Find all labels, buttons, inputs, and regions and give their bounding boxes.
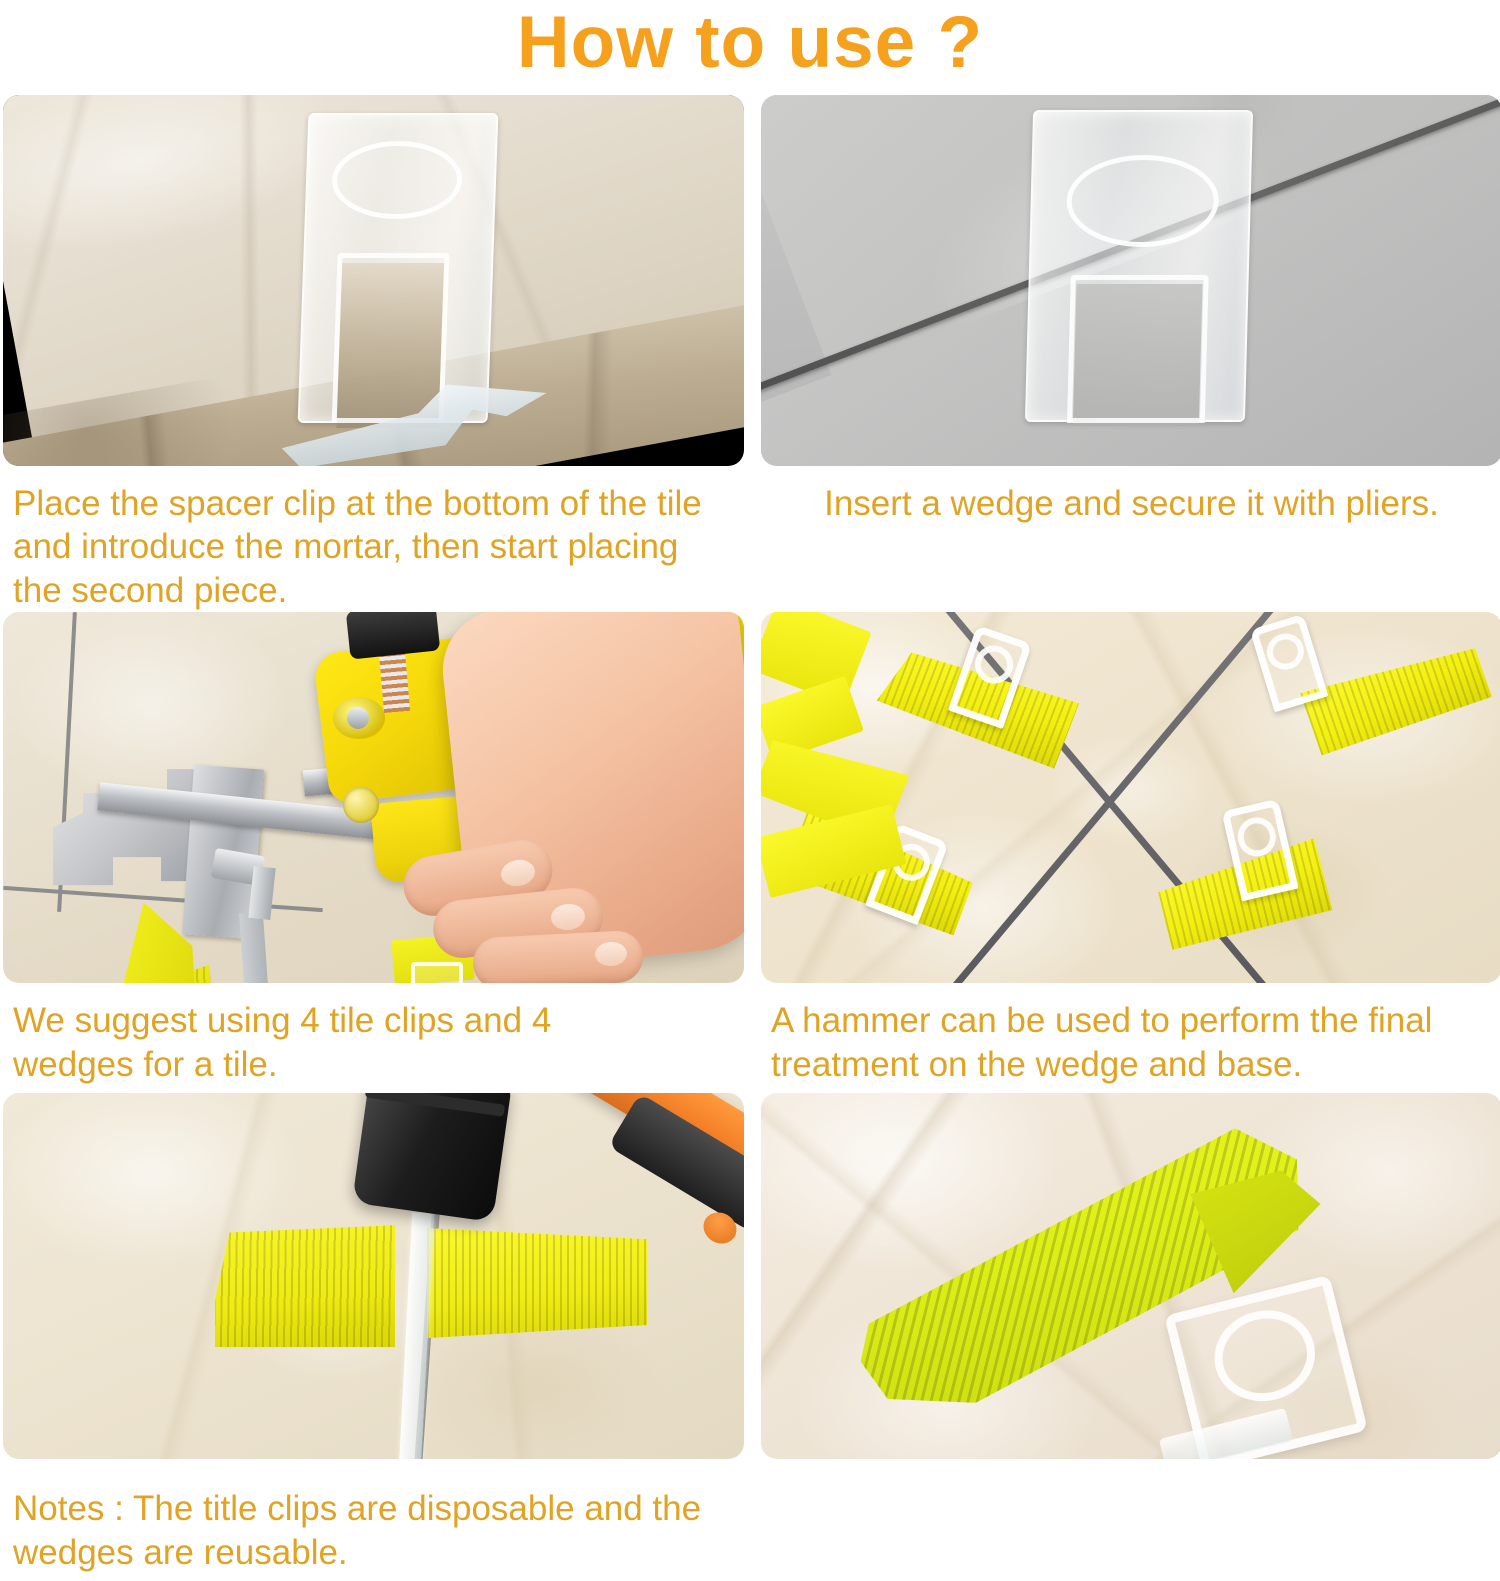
step-card-6	[761, 1093, 1500, 1471]
spacer	[761, 1459, 1500, 1471]
step-5-photo	[3, 1093, 744, 1459]
clip-base-slot	[1067, 275, 1209, 423]
step-6-photo	[761, 1093, 1500, 1459]
notes-caption: Notes : The title clips are disposable a…	[3, 1471, 742, 1581]
steps-row-1: Place the spacer clip at the bottom of t…	[0, 95, 1500, 612]
step-2-photo	[761, 95, 1500, 466]
notes-row: Notes : The title clips are disposable a…	[0, 1471, 1500, 1581]
step-card-3: We suggest using 4 tile clips and 4 wedg…	[3, 612, 744, 1093]
step-4-caption: A hammer can be used to perform the fina…	[761, 983, 1500, 1093]
step-4-photo	[761, 612, 1500, 983]
steps-row-2: We suggest using 4 tile clips and 4 wedg…	[0, 612, 1500, 1093]
step-1-photo	[3, 95, 744, 466]
plier-adjust-hole	[333, 697, 385, 739]
steps-row-3	[0, 1093, 1500, 1471]
yellow-wedge	[427, 1228, 647, 1338]
yellow-wedge	[215, 1225, 395, 1347]
step-3-photo	[3, 612, 744, 983]
spacer-clip-icon	[1025, 110, 1253, 422]
step-card-5	[3, 1093, 744, 1471]
spacer-clip-icon	[411, 962, 463, 983]
step-3-caption: We suggest using 4 tile clips and 4 wedg…	[3, 983, 744, 1093]
step-2-caption: Insert a wedge and secure it with pliers…	[761, 466, 1500, 576]
step-card-2: Insert a wedge and secure it with pliers…	[761, 95, 1500, 612]
step-1-caption: Place the spacer clip at the bottom of t…	[3, 466, 744, 612]
spacer-clip-icon	[298, 113, 499, 423]
steps-grid: Place the spacer clip at the bottom of t…	[0, 95, 1500, 1581]
plier-pivot	[343, 787, 379, 823]
step-card-1: Place the spacer clip at the bottom of t…	[3, 95, 744, 612]
step-card-4: A hammer can be used to perform the fina…	[761, 612, 1500, 1093]
page-title: How to use ?	[0, 0, 1500, 92]
spacer	[3, 1459, 744, 1471]
